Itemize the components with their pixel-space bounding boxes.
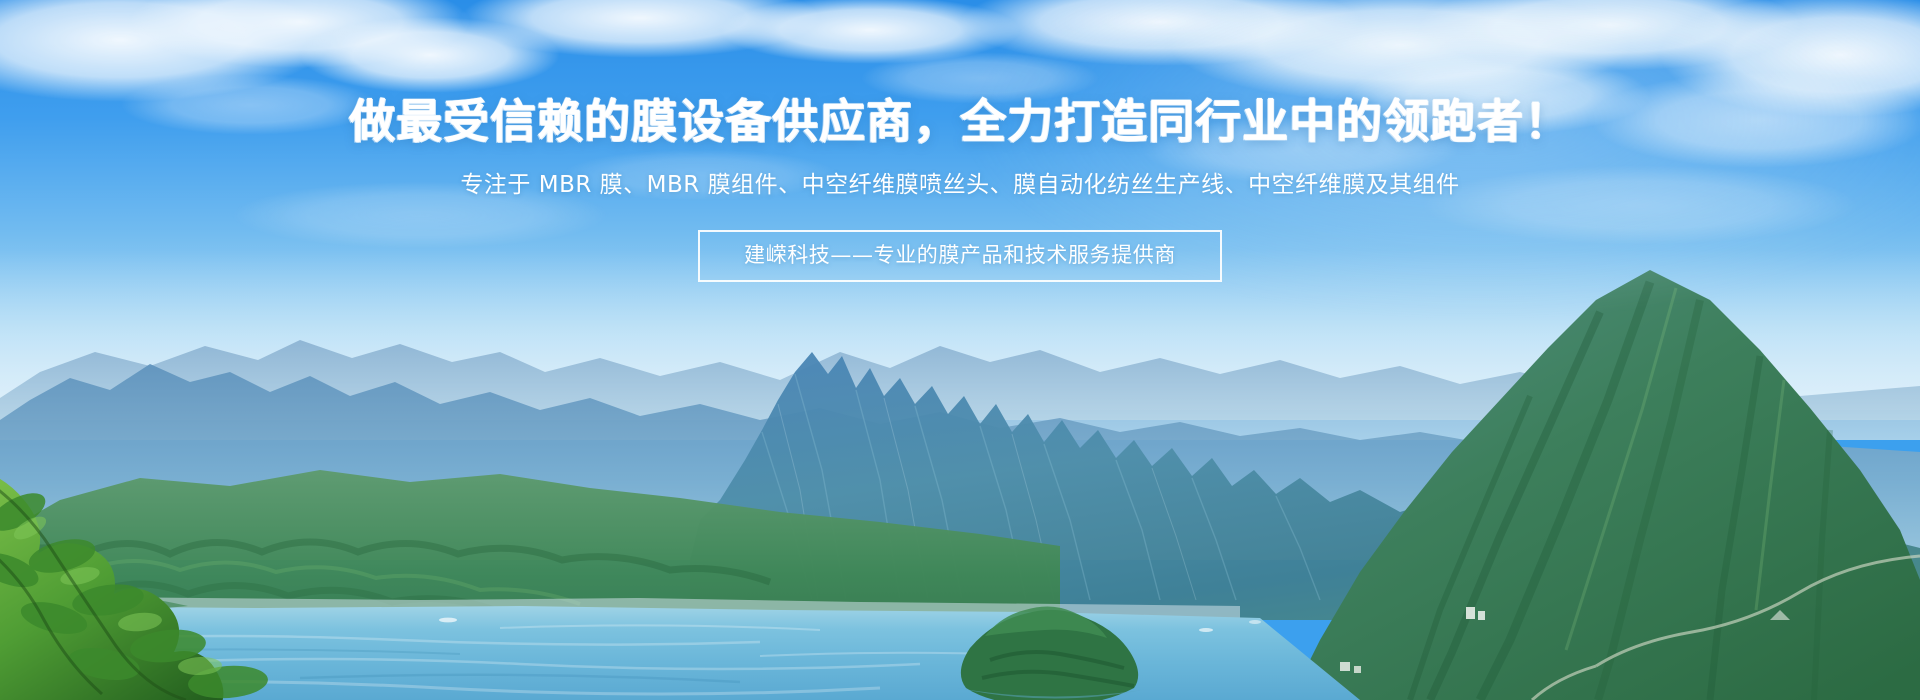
- banner-tagline-box: 建嵘科技——专业的膜产品和技术服务提供商: [698, 230, 1222, 281]
- banner-headline: 做最受信赖的膜设备供应商，全力打造同行业中的领跑者！: [0, 0, 1920, 147]
- hero-banner: 做最受信赖的膜设备供应商，全力打造同行业中的领跑者！ 专注于 MBR 膜、MBR…: [0, 0, 1920, 700]
- banner-subheadline: 专注于 MBR 膜、MBR 膜组件、中空纤维膜喷丝头、膜自动化纺丝生产线、中空纤…: [0, 147, 1920, 201]
- banner-tagline-container: 建嵘科技——专业的膜产品和技术服务提供商: [0, 200, 1920, 281]
